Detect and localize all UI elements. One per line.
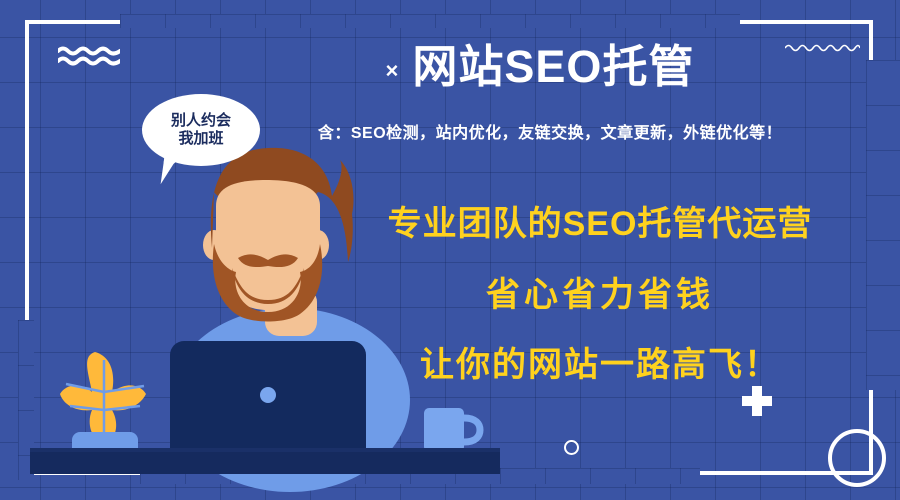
page-subtitle: 含：SEO检测，站内优化，友链交换，文章更新，外链优化等！ [250,119,850,143]
headline-3: 让你的网站一路高飞！ [340,337,860,386]
page-title-row: × 网站SEO托管 [330,42,750,92]
cross-mark-icon: × [386,60,399,82]
speech-bubble-line-2: 我加班 [178,130,223,148]
speech-bubble-line-1: 别人约会 [171,112,231,130]
coffee-mug-icon [424,408,480,452]
headline-2: 省心省力省钱 [340,267,860,316]
headline-1: 专业团队的SEO托管代运营 [340,196,860,245]
laptop-icon [170,341,366,463]
desk-surface [30,452,500,474]
potted-plant-icon [60,352,146,458]
mouth [242,269,294,283]
page-title: 网站SEO托管 [412,42,694,92]
seo-hosting-banner: 别人约会 我加班 × 网站SEO托管 含：SEO检测，站内优化，友链交换，文章更… [0,0,900,500]
speech-bubble: 别人约会 我加班 [142,94,260,166]
